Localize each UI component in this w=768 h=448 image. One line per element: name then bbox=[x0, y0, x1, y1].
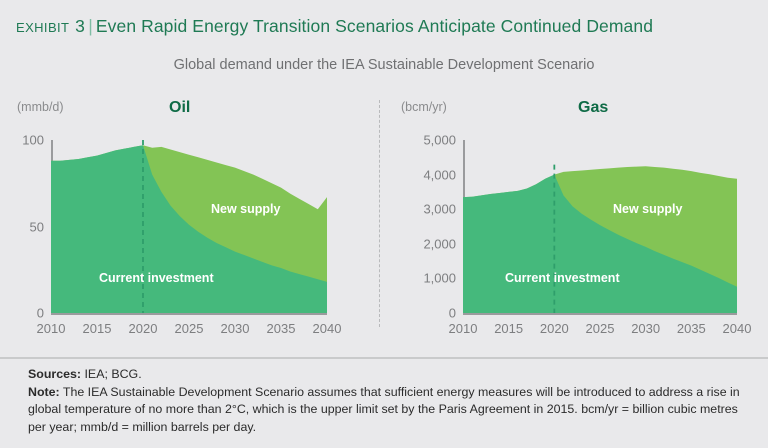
oil-plot-area: New supply Current investment 0501002010… bbox=[51, 140, 327, 313]
exhibit-separator: | bbox=[85, 16, 96, 36]
oil-xtick: 2015 bbox=[83, 321, 112, 336]
oil-unit-label: (mmb/d) bbox=[17, 100, 64, 114]
gas-xtick: 2040 bbox=[723, 321, 752, 336]
footer-sources-label: Sources: bbox=[28, 367, 81, 381]
oil-xtick: 2010 bbox=[37, 321, 66, 336]
gas-xtick: 2015 bbox=[494, 321, 523, 336]
oil-xtick: 2030 bbox=[221, 321, 250, 336]
oil-xtick: 2040 bbox=[313, 321, 342, 336]
exhibit-label: Exhibit 3 bbox=[16, 16, 85, 37]
gas-unit-label: (bcm/yr) bbox=[401, 100, 447, 114]
footer-note-text: The IEA Sustainable Development Scenario… bbox=[28, 385, 740, 434]
gas-ytick: 0 bbox=[449, 306, 456, 321]
oil-xtick: 2025 bbox=[175, 321, 204, 336]
oil-ytick: 0 bbox=[37, 306, 44, 321]
footer-sources-line: Sources: IEA; BCG. bbox=[28, 366, 743, 384]
footer-sources-text: IEA; BCG. bbox=[84, 367, 141, 381]
gas-area-svg bbox=[463, 140, 737, 313]
oil-xtick: 2035 bbox=[267, 321, 296, 336]
gas-xtick: 2025 bbox=[586, 321, 615, 336]
panel-divider bbox=[379, 100, 380, 327]
chart-panel-oil: (mmb/d) Oil New supply Current investmen… bbox=[14, 96, 366, 331]
oil-x-axis bbox=[51, 313, 327, 315]
gas-chart-title: Gas bbox=[578, 99, 608, 117]
footer-note-line: Note: The IEA Sustainable Development Sc… bbox=[28, 385, 740, 434]
gas-ytick: 3,000 bbox=[423, 202, 456, 217]
gas-ytick: 5,000 bbox=[423, 133, 456, 148]
gas-ytick: 4,000 bbox=[423, 167, 456, 182]
gas-xtick: 2010 bbox=[449, 321, 478, 336]
chart-panel-gas: (bcm/yr) Gas New supply Current investme… bbox=[398, 96, 750, 331]
gas-x-axis bbox=[463, 313, 737, 315]
gas-xtick: 2035 bbox=[677, 321, 706, 336]
footer-notes: Sources: IEA; BCG. Note: The IEA Sustain… bbox=[28, 366, 743, 436]
oil-chart-title: Oil bbox=[169, 99, 190, 117]
exhibit-subtitle: Global demand under the IEA Sustainable … bbox=[0, 57, 768, 73]
footer-divider bbox=[0, 357, 768, 359]
oil-ytick: 100 bbox=[22, 133, 44, 148]
gas-ytick: 1,000 bbox=[423, 271, 456, 286]
footer-note-label: Note: bbox=[28, 385, 60, 399]
gas-plot-area: New supply Current investment 01,0002,00… bbox=[463, 140, 737, 313]
exhibit-title-text: Even Rapid Energy Transition Scenarios A… bbox=[96, 16, 653, 36]
exhibit-number: 3 bbox=[75, 16, 85, 36]
gas-xtick: 2020 bbox=[540, 321, 569, 336]
exhibit-page: Exhibit 3|Even Rapid Energy Transition S… bbox=[0, 0, 768, 448]
gas-ytick: 2,000 bbox=[423, 236, 456, 251]
oil-xtick: 2020 bbox=[129, 321, 158, 336]
oil-ytick: 50 bbox=[30, 219, 44, 234]
exhibit-heading: Exhibit 3|Even Rapid Energy Transition S… bbox=[16, 16, 653, 38]
oil-area-svg bbox=[51, 140, 327, 313]
gas-xtick: 2030 bbox=[631, 321, 660, 336]
